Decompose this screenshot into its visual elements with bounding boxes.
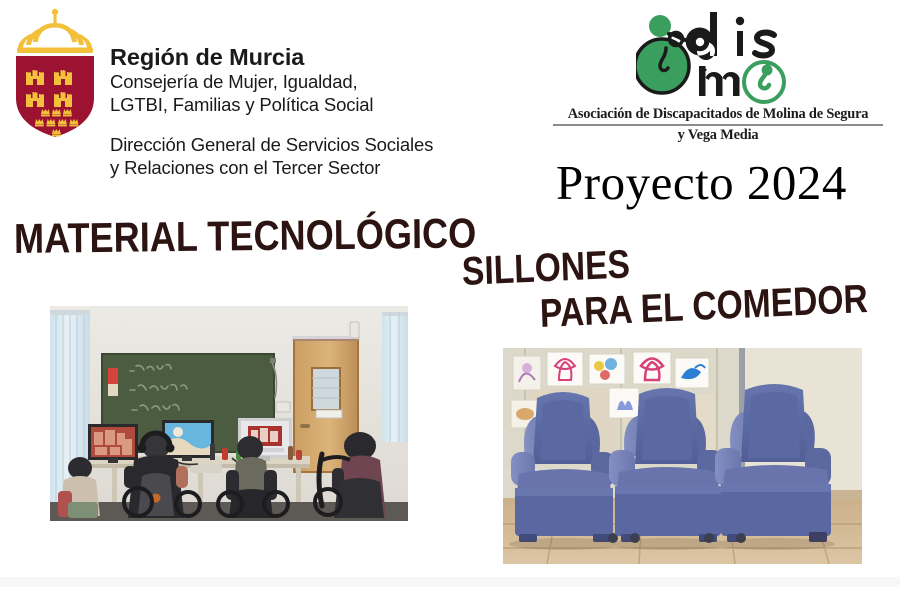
photo-sillones-comedor bbox=[503, 348, 862, 564]
adismo-logo: Asociación de Discapacitados de Molina d… bbox=[548, 8, 888, 148]
adismo-caption-line-2: y Vega Media bbox=[548, 127, 888, 144]
poster-canvas: Región de Murcia Consejería de Mujer, Ig… bbox=[0, 0, 900, 599]
murcia-department-line-1: Dirección General de Servicios Sociales bbox=[110, 133, 530, 156]
photo-aula-informatica bbox=[50, 306, 408, 521]
adismo-logo-icon bbox=[636, 8, 821, 106]
region-de-murcia-text: Región de Murcia Consejería de Mujer, Ig… bbox=[110, 44, 530, 179]
heading-sillones: SILLONES bbox=[461, 242, 630, 294]
adismo-caption: Asociación de Discapacitados de Molina d… bbox=[548, 106, 888, 144]
adismo-caption-divider bbox=[553, 124, 883, 126]
murcia-subtitle-line-2: LGTBI, Familias y Política Social bbox=[110, 93, 530, 116]
region-de-murcia-logo: Región de Murcia Consejería de Mujer, Ig… bbox=[0, 0, 540, 190]
heading-material-tecnologico: MATERIAL TECNOLÓGICO bbox=[14, 210, 477, 262]
murcia-department: Dirección General de Servicios Sociales … bbox=[110, 133, 530, 179]
project-title: Proyecto 2024 bbox=[556, 155, 847, 211]
murcia-subtitle-line-1: Consejería de Mujer, Igualdad, bbox=[110, 70, 530, 93]
murcia-department-line-2: y Relaciones con el Tercer Sector bbox=[110, 156, 530, 179]
bottom-band bbox=[0, 577, 900, 587]
adismo-caption-line-1: Asociación de Discapacitados de Molina d… bbox=[548, 106, 888, 123]
murcia-coat-of-arms-icon bbox=[8, 6, 102, 138]
murcia-title: Región de Murcia bbox=[110, 44, 530, 70]
